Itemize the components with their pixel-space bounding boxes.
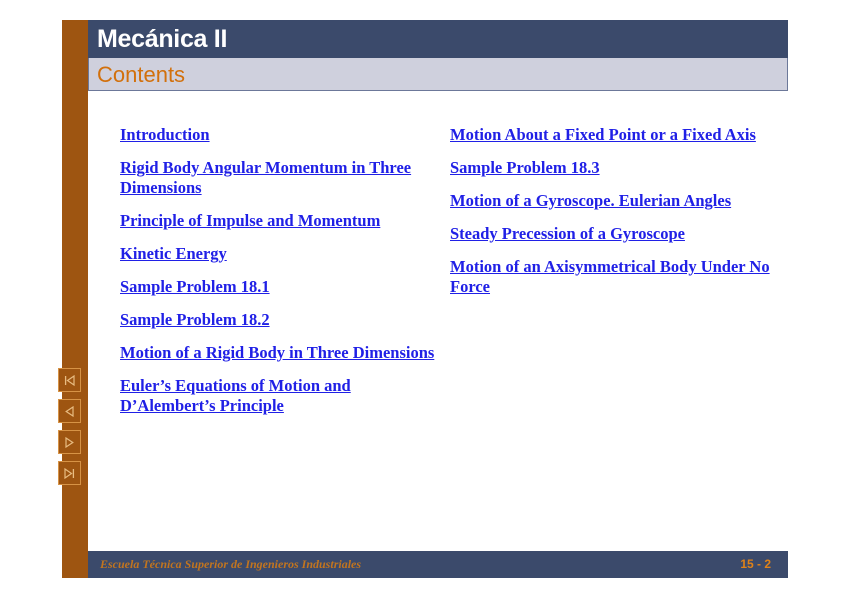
slide-content-area: Introduction Rigid Body Angular Momentum… (88, 91, 788, 551)
toc-link[interactable]: Sample Problem 18.2 (120, 310, 438, 330)
toc-link[interactable]: Steady Precession of a Gyroscope (450, 224, 780, 244)
slide-footer: Escuela Técnica Superior de Ingenieros I… (88, 551, 788, 578)
toc-link[interactable]: Rigid Body Angular Momentum in Three Dim… (120, 158, 438, 198)
toc-link[interactable]: Kinetic Energy (120, 244, 438, 264)
toc-link[interactable]: Euler’s Equations of Motion and D’Alembe… (120, 376, 438, 416)
toc-link[interactable]: Introduction (120, 125, 438, 145)
slide-sidebar-strip (62, 20, 88, 578)
slide: Mecánica II Contents Introduction Rigid … (62, 20, 788, 578)
toc-link[interactable]: Motion of a Gyroscope. Eulerian Angles (450, 191, 780, 211)
last-slide-button[interactable] (58, 461, 81, 485)
toc-left-column: Introduction Rigid Body Angular Momentum… (120, 125, 438, 429)
toc-link[interactable]: Motion of an Axisymmetrical Body Under N… (450, 257, 780, 297)
next-slide-button[interactable] (58, 430, 81, 454)
first-slide-icon (63, 374, 76, 387)
slide-subtitle-bar: Contents (88, 58, 788, 91)
previous-slide-icon (63, 405, 76, 418)
previous-slide-button[interactable] (58, 399, 81, 423)
toc-link[interactable]: Motion About a Fixed Point or a Fixed Ax… (450, 125, 780, 145)
page-title: Mecánica II (97, 24, 227, 54)
toc-right-column: Motion About a Fixed Point or a Fixed Ax… (450, 125, 780, 310)
next-slide-icon (63, 436, 76, 449)
slide-subtitle: Contents (97, 61, 185, 88)
toc-link[interactable]: Motion of a Rigid Body in Three Dimensio… (120, 343, 438, 363)
toc-link[interactable]: Sample Problem 18.1 (120, 277, 438, 297)
footer-page-number: 15 - 2 (740, 557, 771, 572)
first-slide-button[interactable] (58, 368, 81, 392)
slide-title-bar: Mecánica II (88, 20, 788, 58)
toc-link[interactable]: Sample Problem 18.3 (450, 158, 780, 178)
toc-link[interactable]: Principle of Impulse and Momentum (120, 211, 438, 231)
slide-navigation-buttons (58, 368, 85, 492)
footer-school-name: Escuela Técnica Superior de Ingenieros I… (100, 557, 361, 572)
last-slide-icon (63, 467, 76, 480)
